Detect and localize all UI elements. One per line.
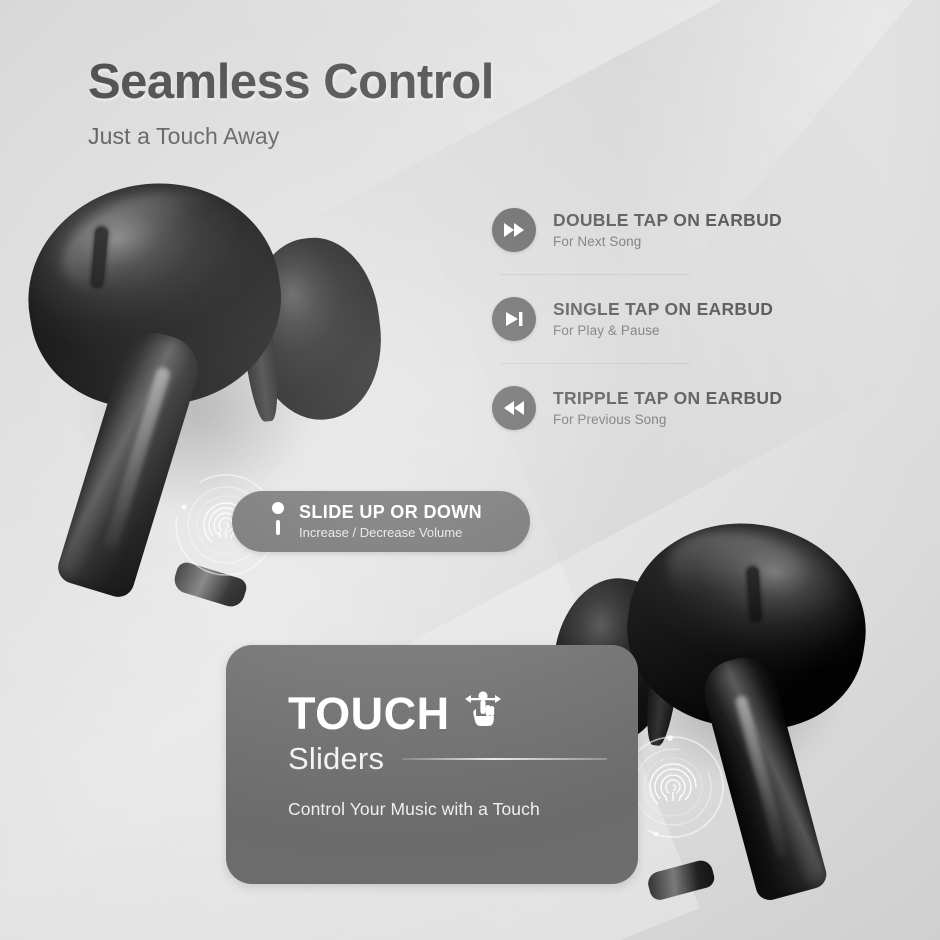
feature-divider xyxy=(500,363,690,364)
vertical-slider-icon xyxy=(270,499,286,544)
feature-item-single-tap[interactable]: SINGLE TAP ON EARBUD For Play & Pause xyxy=(492,289,912,349)
feature-text: TRIPPLE TAP ON EARBUD For Previous Song xyxy=(553,389,782,427)
play-skip-icon xyxy=(492,297,536,341)
touch-heading-row: TOUCH xyxy=(288,691,607,736)
touch-tagline: Control Your Music with a Touch xyxy=(288,799,607,820)
feature-divider xyxy=(500,274,690,275)
page-title: Seamless Control xyxy=(88,56,494,109)
feature-item-double-tap[interactable]: DOUBLE TAP ON EARBUD For Next Song xyxy=(492,200,912,260)
touch-sliders-panel: TOUCH xyxy=(226,645,638,884)
touch-panel-content: TOUCH xyxy=(288,691,607,820)
feature-subtitle: For Previous Song xyxy=(553,412,782,427)
feature-text: SINGLE TAP ON EARBUD For Play & Pause xyxy=(553,300,773,338)
feature-title: TRIPPLE TAP ON EARBUD xyxy=(553,389,782,408)
feature-subtitle: For Next Song xyxy=(553,234,782,249)
infographic-canvas: Seamless Control Just a Touch Away DOUBL… xyxy=(0,0,940,940)
header: Seamless Control Just a Touch Away xyxy=(88,56,494,150)
feature-text: DOUBLE TAP ON EARBUD For Next Song xyxy=(553,211,782,249)
left-earbud xyxy=(18,178,418,638)
right-earbud-charging-contact xyxy=(646,858,717,902)
feature-list: DOUBLE TAP ON EARBUD For Next Song SINGL… xyxy=(492,200,912,443)
touch-heading: TOUCH xyxy=(288,691,450,736)
feature-title: SINGLE TAP ON EARBUD xyxy=(553,300,773,319)
slide-pill-text: SLIDE UP OR DOWN Increase / Decrease Vol… xyxy=(299,503,482,541)
feature-item-triple-tap[interactable]: TRIPPLE TAP ON EARBUD For Previous Song xyxy=(492,378,912,438)
feature-title: DOUBLE TAP ON EARBUD xyxy=(553,211,782,230)
page-subtitle: Just a Touch Away xyxy=(88,123,494,150)
slide-pill-subtitle: Increase / Decrease Volume xyxy=(299,525,482,540)
fast-forward-icon xyxy=(492,208,536,252)
rewind-icon xyxy=(492,386,536,430)
feature-subtitle: For Play & Pause xyxy=(553,323,773,338)
slide-up-down-callout[interactable]: SLIDE UP OR DOWN Increase / Decrease Vol… xyxy=(232,491,530,552)
slide-pill-title: SLIDE UP OR DOWN xyxy=(299,503,482,522)
touch-subheading-row: Sliders xyxy=(288,741,607,777)
touch-panel-rule xyxy=(402,758,607,760)
swipe-hand-icon xyxy=(463,689,503,734)
touch-subheading: Sliders xyxy=(288,741,384,777)
